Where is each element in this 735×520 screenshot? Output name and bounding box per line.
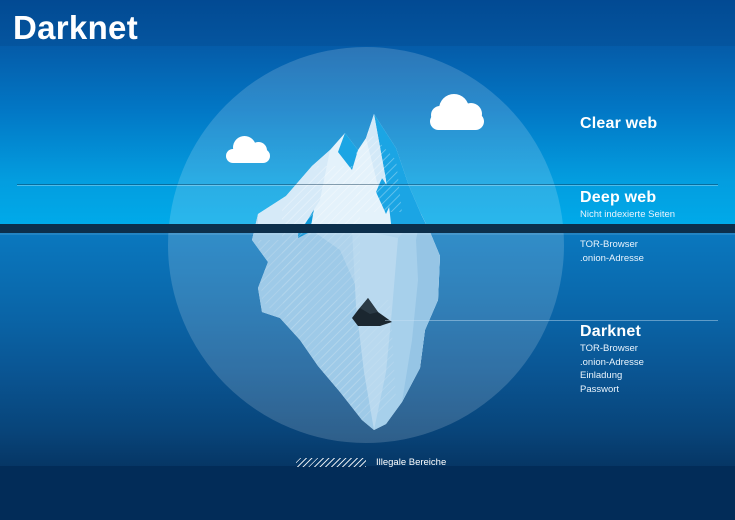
label-darknet-heading: Darknet — [580, 322, 644, 342]
label-darknet: Darknet TOR-Browser .onion-Adresse Einla… — [580, 322, 644, 396]
darknet-item-invitation: Einladung — [580, 369, 644, 383]
label-deep-web-subtitle: Nicht indexierte Seiten — [580, 208, 675, 222]
label-clear-web: Clear web — [580, 114, 657, 134]
darknet-item-password: Passwort — [580, 383, 644, 397]
water-surface-line — [0, 224, 735, 233]
legend-hatch-swatch-icon — [296, 458, 366, 467]
deep-web-item-onion-address: .onion-Adresse — [580, 252, 644, 266]
page-title: Darknet — [13, 8, 138, 48]
darknet-item-onion-address: .onion-Adresse — [580, 356, 644, 370]
label-clear-web-heading: Clear web — [580, 114, 657, 134]
darknet-item-tor-browser: TOR-Browser — [580, 342, 644, 356]
legend: Illegale Bereiche — [296, 456, 446, 469]
underwater-tint — [240, 232, 460, 442]
legend-label: Illegale Bereiche — [376, 456, 446, 469]
label-deep-web-details: TOR-Browser .onion-Adresse — [580, 238, 644, 265]
divider-clear-web-highlight — [17, 185, 718, 186]
divider-darknet — [385, 320, 718, 321]
darknet-iceberg-infographic: Darknet Clear web Deep web Nicht indexie… — [0, 0, 735, 520]
label-deep-web: Deep web Nicht indexierte Seiten — [580, 188, 675, 222]
deep-web-item-tor-browser: TOR-Browser — [580, 238, 644, 252]
label-deep-web-heading: Deep web — [580, 188, 675, 208]
water-surface-glow — [0, 233, 735, 235]
